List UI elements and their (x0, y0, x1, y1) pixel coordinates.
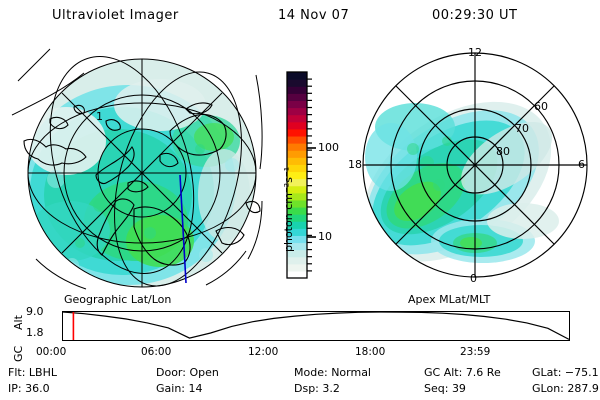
status-row: IP: 36.0Gain: 14Dsp: 3.2Seq: 39GLon: 287… (8, 382, 592, 398)
status-field-dsp: Dsp: 3.2 (294, 382, 340, 395)
status-value-dsp: 3.2 (322, 382, 340, 395)
status-value-gain: 14 (189, 382, 203, 395)
geographic-gridline-label: 1 (96, 110, 103, 123)
status-field-mode: Mode: Normal (294, 366, 371, 379)
status-field-filter: Flt: LBHL (8, 366, 57, 379)
apex-panel-caption: Apex MLat/MLT (408, 293, 490, 306)
status-label-ip: IP: (8, 382, 25, 395)
instrument-title: Ultraviolet Imager (52, 8, 179, 23)
status-label-mode: Mode: (294, 366, 331, 379)
status-value-mode: Normal (331, 366, 371, 379)
status-label-door: Door: (156, 366, 189, 379)
status-label-dsp: Dsp: (294, 382, 322, 395)
gc-alt-curve (63, 312, 569, 339)
status-panel: Flt: LBHLDoor: OpenMode: NormalGC Alt: 7… (8, 366, 592, 398)
status-value-door: Open (189, 366, 218, 379)
status-label-gc-alt: GC Alt: (424, 366, 466, 379)
status-value-seq: 39 (452, 382, 466, 395)
colorbar-axis-label: photon cm⁻²s⁻¹ (282, 167, 295, 252)
gc-alt-axis-title-alt: Alt (12, 315, 25, 330)
mlt-label-0: 0 (470, 272, 477, 285)
mlat-ring-label-80: 80 (496, 145, 510, 158)
status-label-gain: Gain: (156, 382, 189, 395)
status-label-seq: Seq: (424, 382, 452, 395)
status-field-seq: Seq: 39 (424, 382, 466, 395)
geographic-panel-caption: Geographic Lat/Lon (64, 293, 171, 306)
mlat-ring-label-70: 70 (515, 122, 529, 135)
mlat-ring-label-60: 60 (534, 100, 548, 113)
gc-alt-ymax-label: 9.0 (26, 305, 44, 318)
mlt-label-6: 6 (578, 158, 585, 171)
status-value-gc-alt: 7.6 Re (466, 366, 501, 379)
status-label-glon: GLon: (532, 382, 567, 395)
status-label-glat: GLat: (532, 366, 565, 379)
status-value-glon: 287.9 (567, 382, 599, 395)
gc-alt-plot[interactable] (62, 311, 570, 341)
status-field-gc-alt: GC Alt: 7.6 Re (424, 366, 501, 379)
status-field-ip: IP: 36.0 (8, 382, 50, 395)
colorbar-tick-label-10: 10 (318, 230, 332, 243)
colorbar-tick-label-100: 100 (318, 141, 339, 154)
geographic-polar-image[interactable] (10, 45, 265, 295)
status-label-filter: Flt: (8, 366, 29, 379)
mlt-label-12: 12 (468, 46, 482, 59)
gc-alt-ymin-label: 1.8 (26, 326, 44, 339)
x-tick-2359: 23:59 (460, 346, 490, 358)
apex-mlat-mlt-dial[interactable] (355, 45, 595, 295)
colorbar-minor-ticks (307, 79, 312, 271)
gc-alt-axis-title-gc: GC (12, 346, 25, 362)
status-field-glat: GLat: −75.1 (532, 366, 599, 379)
x-tick-0000: 00:00 (36, 346, 66, 358)
colorbar (264, 60, 354, 290)
status-value-filter: LBHL (29, 366, 57, 379)
x-tick-1800: 18:00 (355, 346, 385, 358)
status-row: Flt: LBHLDoor: OpenMode: NormalGC Alt: 7… (8, 366, 592, 382)
observation-date: 14 Nov 07 (278, 8, 349, 23)
dial-gridlines (363, 53, 587, 277)
observation-time: 00:29:30 UT (432, 8, 517, 23)
mlt-label-18: 18 (348, 158, 362, 171)
status-value-ip: 36.0 (25, 382, 50, 395)
status-field-glon: GLon: 287.9 (532, 382, 599, 395)
x-tick-0600: 06:00 (141, 346, 171, 358)
x-tick-1200: 12:00 (248, 346, 278, 358)
status-field-door: Door: Open (156, 366, 219, 379)
status-field-gain: Gain: 14 (156, 382, 203, 395)
status-value-glat: −75.1 (565, 366, 599, 379)
